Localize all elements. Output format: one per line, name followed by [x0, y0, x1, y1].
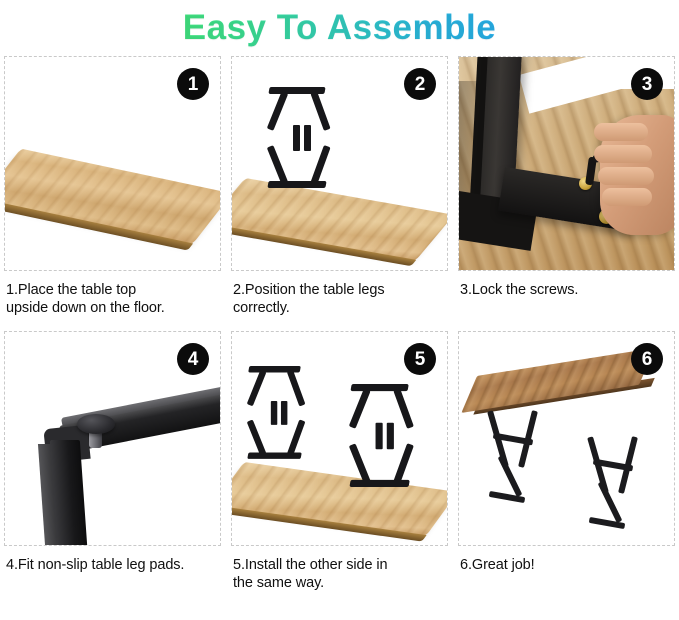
step-caption-2: 2.Position the table legs correctly. [231, 282, 448, 317]
step-panel-6[interactable]: 6 [458, 331, 675, 546]
title-bar: Easy To Assemble [0, 0, 679, 56]
leg-waist-right [281, 401, 287, 425]
step-panel-1[interactable]: 1 [4, 56, 221, 271]
step-cell-6: 6 6.Great job! [458, 331, 675, 592]
leg-waist-left [376, 423, 383, 450]
step-caption-5: 5.Install the other side in the same way… [231, 557, 448, 592]
finger [594, 123, 648, 141]
leg-upper-left [267, 91, 288, 131]
leg-lower-left [247, 420, 267, 457]
step-cell-1: 1 1.Place the table top upside down on t… [4, 56, 221, 317]
leg-waist-right [387, 423, 394, 450]
step-badge-1: 1 [177, 68, 209, 100]
leg-lower-right [393, 444, 414, 485]
step-cell-4: 4 4.Fit non-slip table leg pads. [4, 331, 221, 592]
step-panel-3[interactable]: 3 [458, 56, 675, 271]
step-badge-2: 2 [404, 68, 436, 100]
leg-upper-left [349, 389, 371, 430]
steps-row-2: 4 4.Fit non-slip table leg pads. [0, 331, 679, 592]
step-cell-2: 2 2.Position the table legs correctly. [231, 56, 448, 317]
step-cell-3: 3 3.Lock the screws. [458, 56, 675, 317]
wood-grain [5, 149, 220, 245]
leg-upper-right [393, 388, 414, 429]
table-top [461, 348, 654, 413]
step-caption-6: 6.Great job! [458, 557, 675, 575]
leg-lower-right [287, 420, 306, 457]
leg-waist-right [304, 125, 311, 151]
finger [602, 188, 652, 206]
step-panel-4[interactable]: 4 [4, 331, 221, 546]
wood-grain [232, 178, 447, 261]
finger [598, 167, 654, 185]
step-badge-3: 3 [631, 68, 663, 100]
step-caption-4: 4.Fit non-slip table leg pads. [4, 557, 221, 575]
steps-grid: 1 1.Place the table top upside down on t… [0, 56, 679, 593]
leg-lower-left [267, 145, 288, 185]
steps-row-1: 1 1.Place the table top upside down on t… [0, 56, 679, 317]
leg-foot-bar [267, 181, 326, 188]
finger [594, 145, 652, 163]
table-top-plank [232, 178, 447, 261]
leg-upper-left [247, 370, 267, 407]
leg-waist-left [293, 125, 300, 151]
page-title: Easy To Assemble [183, 8, 496, 48]
step-caption-1: 1.Place the table top upside down on the… [4, 282, 221, 317]
step-cell-5: 5 5.Install the other side in the same w… [231, 331, 448, 592]
leg-upper-right [310, 91, 330, 131]
leg-lower-right [310, 145, 330, 185]
table-top-slab [5, 149, 220, 245]
step-panel-2[interactable]: 2 [231, 56, 448, 271]
leg-waist-left [271, 401, 277, 425]
leg-upper-right [287, 370, 306, 407]
leg-foot-bar [349, 480, 409, 487]
leg-foot-bar [247, 453, 301, 459]
table-top-plank [232, 462, 447, 536]
wood-grain [232, 462, 447, 536]
step-panel-5[interactable]: 5 [231, 331, 448, 546]
step-caption-3: 3.Lock the screws. [458, 282, 675, 300]
wood-grain [461, 348, 654, 413]
